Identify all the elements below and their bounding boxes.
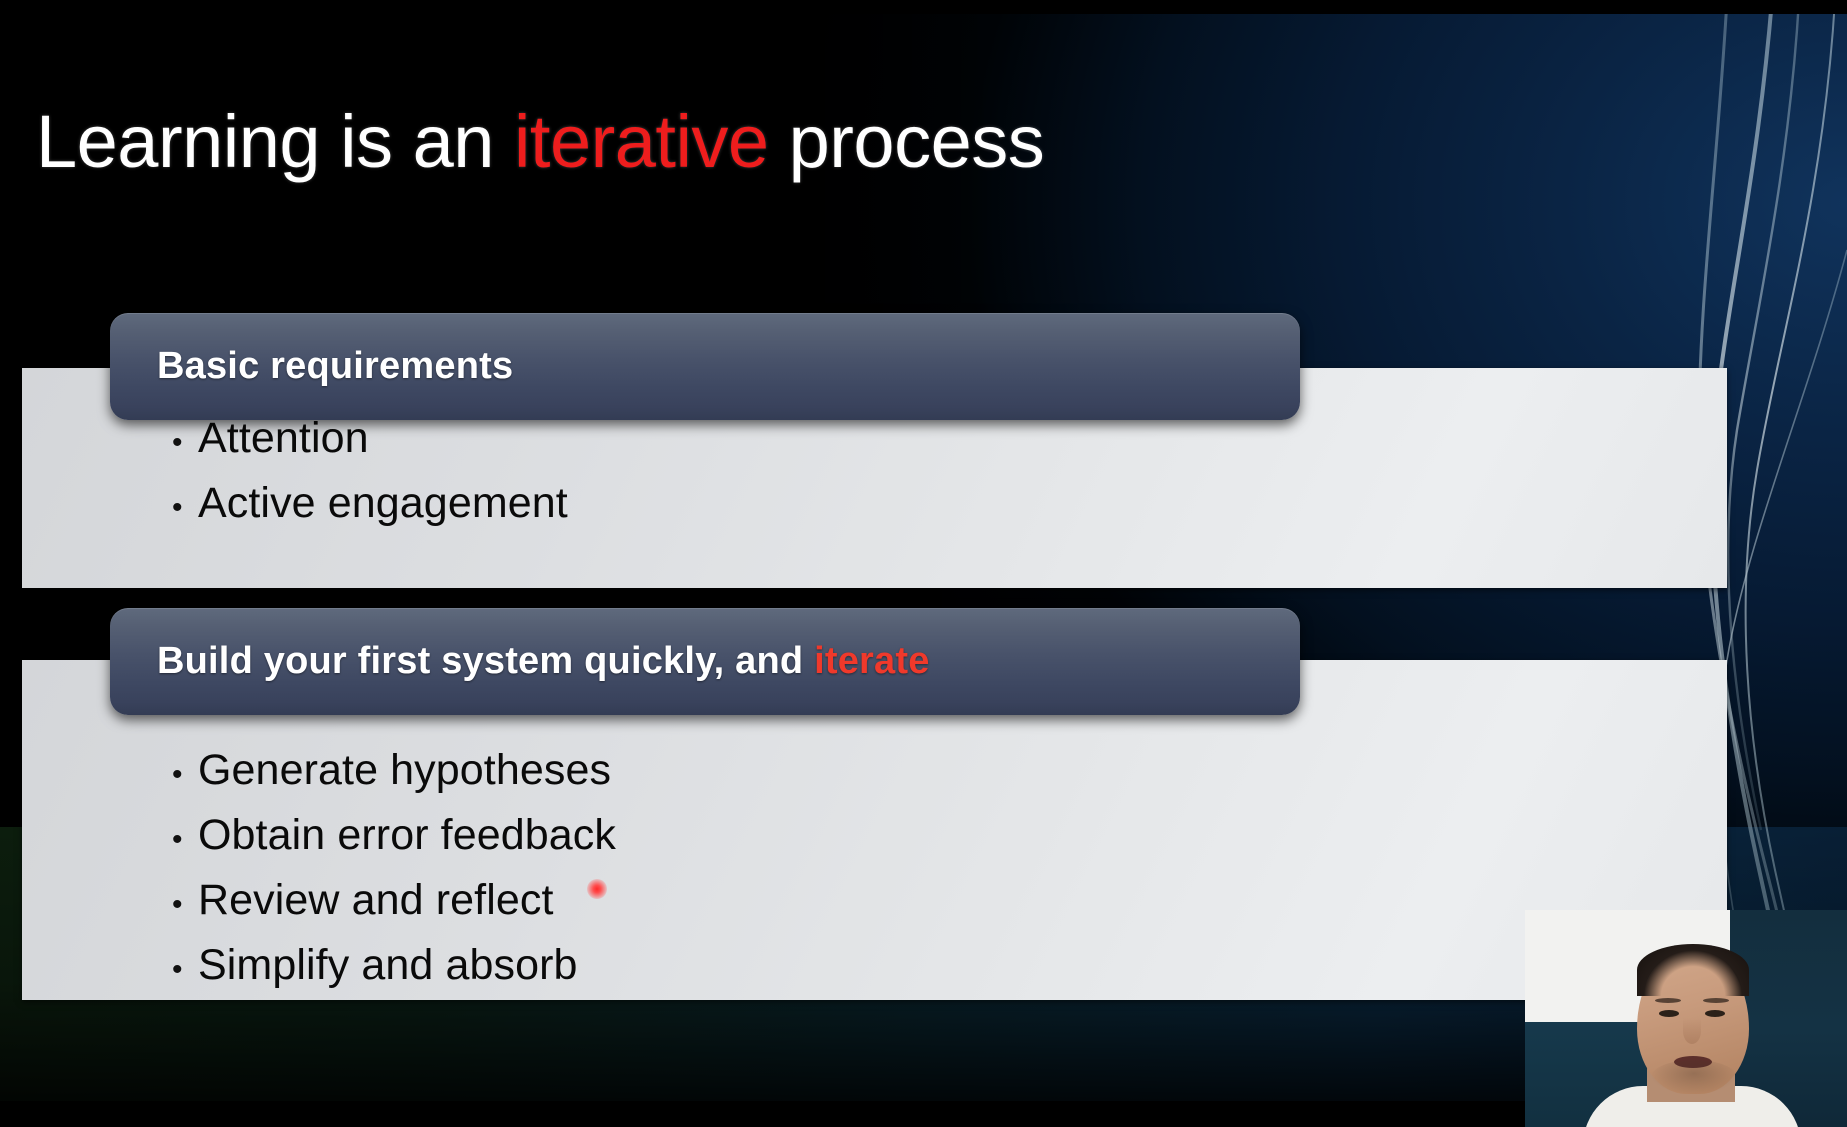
presenter-eye-right bbox=[1705, 1010, 1725, 1017]
page-title-post: process bbox=[769, 100, 1045, 183]
page-title-accent: iterative bbox=[514, 100, 769, 183]
list-item: • Generate hypotheses bbox=[172, 740, 1727, 805]
presenter-nose bbox=[1683, 1018, 1701, 1044]
background-top-letterbox bbox=[0, 0, 1847, 14]
list-item-label: Active engagement bbox=[198, 473, 568, 534]
presenter-chin-shadow bbox=[1651, 1060, 1737, 1094]
page-title: Learning is an iterative process bbox=[36, 99, 1044, 184]
laser-pointer-dot bbox=[587, 879, 607, 899]
list-item: • Simplify and absorb bbox=[172, 935, 1727, 1000]
bullet-marker-icon: • bbox=[172, 874, 198, 935]
section-header-label: Basic requirements bbox=[110, 345, 513, 388]
list-item-label: Review and reflect bbox=[198, 870, 554, 931]
section-header-label: Build your first system quickly, and ite… bbox=[110, 640, 930, 683]
presenter-eyebrow-left bbox=[1655, 998, 1681, 1003]
bullet-marker-icon: • bbox=[172, 809, 198, 870]
presenter-eyebrow-right bbox=[1703, 998, 1729, 1003]
list-item-label: Obtain error feedback bbox=[198, 805, 616, 866]
list-item-label: Generate hypotheses bbox=[198, 740, 611, 801]
list-item: • Obtain error feedback bbox=[172, 805, 1727, 870]
page-title-pre: Learning is an bbox=[36, 100, 514, 183]
bullet-list-build-iterate: • Generate hypotheses • Obtain error fee… bbox=[22, 740, 1727, 1000]
presenter-webcam-overlay[interactable] bbox=[1525, 910, 1847, 1127]
presenter-eye-left bbox=[1659, 1010, 1679, 1017]
section-header-pre: Basic requirements bbox=[157, 345, 513, 387]
section-header-pre: Build your first system quickly, and bbox=[157, 640, 814, 682]
presenter-hair bbox=[1637, 944, 1749, 996]
bullet-marker-icon: • bbox=[172, 412, 198, 473]
section-header-build-iterate: Build your first system quickly, and ite… bbox=[110, 608, 1300, 715]
section-header-basic-requirements: Basic requirements bbox=[110, 313, 1300, 420]
list-item: • Active engagement bbox=[172, 473, 1727, 538]
bullet-marker-icon: • bbox=[172, 939, 198, 1000]
bullet-marker-icon: • bbox=[172, 744, 198, 805]
bullet-marker-icon: • bbox=[172, 477, 198, 538]
list-item: • Review and reflect bbox=[172, 870, 1727, 935]
section-header-accent: iterate bbox=[814, 640, 929, 682]
bullet-list-basic-requirements: • Attention • Active engagement bbox=[22, 408, 1727, 538]
list-item-label: Simplify and absorb bbox=[198, 935, 578, 996]
slide-canvas: Learning is an iterative process • Atten… bbox=[0, 0, 1847, 1127]
